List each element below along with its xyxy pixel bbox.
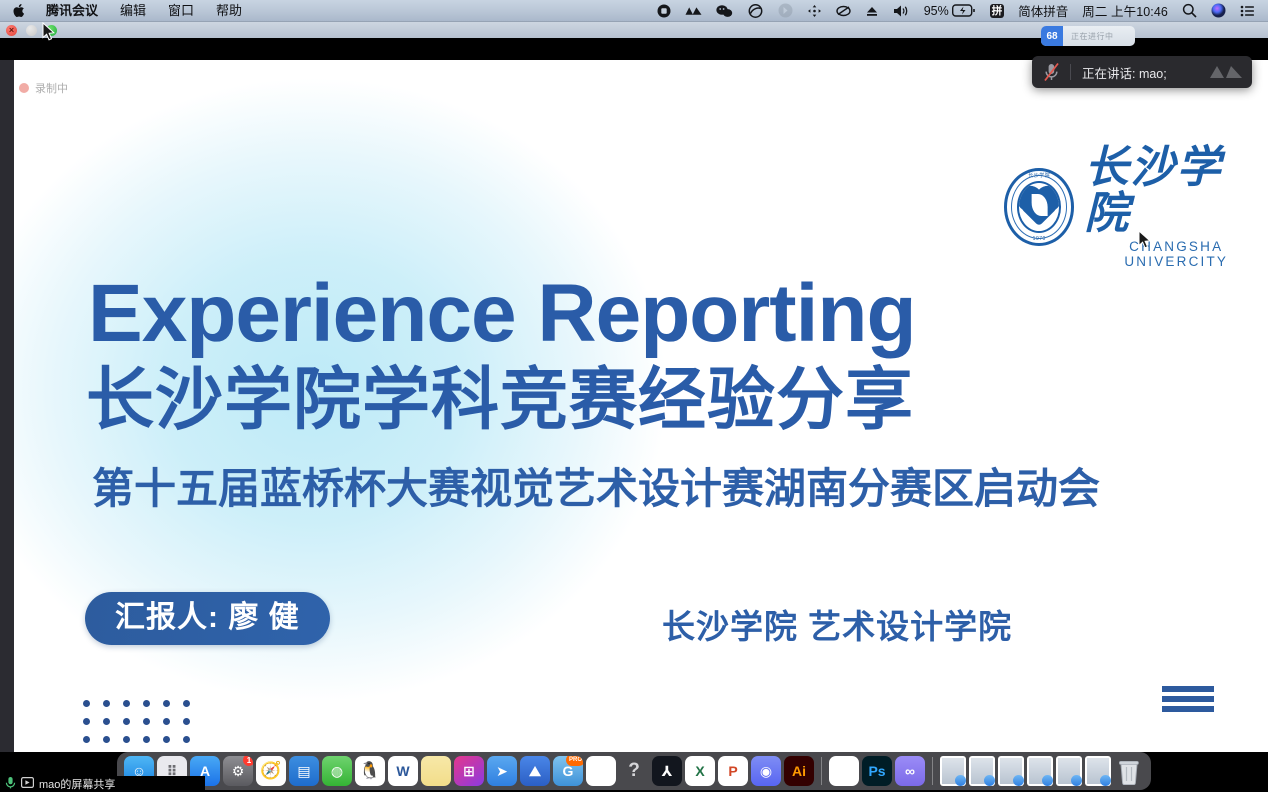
dock-item-asana[interactable]: ⁂: [586, 756, 616, 786]
adobe-acrobat-icon: ⅄: [662, 763, 673, 780]
macos-menu-bar: 腾讯会议 编辑 窗口 帮助: [0, 0, 1268, 22]
presenter-badge: 汇报人: 廖 健: [85, 592, 330, 645]
dock: ☺⠿A⚙1🧭▤◍🐧W⊞➤⛰GPRO⁂?⅄XP◉Ai◎Ps∞: [117, 752, 1151, 790]
mouse-cursor-secondary: [42, 22, 55, 46]
dock-item-xmind[interactable]: ⊞: [454, 756, 484, 786]
shared-content-area: 长沙学院 1970 长沙学院 CHANGSHA UNIVERCITY: [0, 60, 1268, 774]
tencent-meeting-logo-icon: [1209, 63, 1252, 81]
keynote-icon: ▤: [297, 763, 310, 780]
question-app-icon: ?: [628, 760, 640, 782]
shared-screen-window: × 长沙学院 1970: [0, 22, 1268, 792]
search-icon[interactable]: [1175, 0, 1204, 22]
menu-bar-left: 腾讯会议 编辑 窗口 帮助: [8, 0, 253, 22]
mountain-icon[interactable]: [678, 0, 709, 22]
loop-icon[interactable]: [829, 0, 858, 22]
slide-subtitle: 第十五届蓝桥杯大赛视觉艺术设计赛湖南分赛区启动会: [92, 468, 1100, 510]
asana-icon: ⁂: [592, 761, 609, 781]
minimize-button[interactable]: [26, 25, 37, 36]
dock-item-microsoft-excel[interactable]: X: [685, 756, 715, 786]
dock-item-discord[interactable]: ◉: [751, 756, 781, 786]
university-name-cn: 长沙学院: [1084, 145, 1268, 237]
active-speaker-label: 正在讲话: mao;: [1071, 63, 1167, 82]
bird-app-icon: ➤: [496, 763, 508, 780]
presentation-slide: 长沙学院 1970 长沙学院 CHANGSHA UNIVERCITY: [14, 60, 1268, 774]
volume-icon[interactable]: [886, 0, 917, 22]
wechat-icon: ◍: [331, 763, 343, 780]
screen: 腾讯会议 编辑 窗口 帮助: [0, 0, 1268, 792]
dock-item-keynote[interactable]: ▤: [289, 756, 319, 786]
infinity-app-icon: ∞: [905, 763, 915, 779]
forward-arrow-icon[interactable]: [771, 0, 800, 22]
dock-minimized-window-keynote[interactable]: [969, 756, 995, 786]
ime-glyph: 拼: [990, 4, 1005, 18]
dock-minimized-window-notes[interactable]: [1085, 756, 1111, 786]
close-button[interactable]: ×: [6, 25, 17, 36]
seal-top-text: 长沙学院: [1004, 172, 1074, 179]
dock-item-bird-app[interactable]: ➤: [487, 756, 517, 786]
dock-minimized-window-browser[interactable]: [1056, 756, 1082, 786]
decorative-bar-stack: [1162, 686, 1214, 712]
dock-minimized-window-doc[interactable]: [1027, 756, 1053, 786]
seal-year-text: 1970: [1004, 236, 1074, 242]
creative-cloud-icon[interactable]: [740, 0, 771, 22]
dock-item-qq[interactable]: 🐧: [355, 756, 385, 786]
airplay-mirror-icon[interactable]: [800, 0, 829, 22]
meeting-mini-label: 正在进行中: [1063, 31, 1114, 42]
menu-item-edit[interactable]: 编辑: [109, 0, 157, 22]
university-logo: 长沙学院 1970 长沙学院 CHANGSHA UNIVERCITY: [1004, 145, 1268, 269]
active-speaker-toast[interactable]: 正在讲话: mao;: [1032, 56, 1252, 88]
qq-icon: 🐧: [359, 761, 380, 781]
input-method-badge[interactable]: 拼: [983, 0, 1012, 22]
menu-item-help[interactable]: 帮助: [205, 0, 253, 22]
microsoft-powerpoint-icon: P: [728, 763, 737, 779]
screen-share-label: mao的屏幕共享: [39, 776, 115, 792]
dock-separator: [932, 757, 933, 785]
slide-title-english: Experience Reporting: [88, 273, 916, 355]
google-chrome-icon: ◎: [837, 761, 852, 781]
dock-item-microsoft-word[interactable]: W: [388, 756, 418, 786]
input-method-label[interactable]: 简体拼音: [1011, 0, 1075, 22]
adobe-photoshop-icon: Ps: [868, 763, 885, 779]
discord-icon: ◉: [760, 763, 772, 780]
safari-icon: 🧭: [260, 761, 281, 781]
mouse-cursor: [1138, 230, 1151, 254]
dock-minimized-window-photo[interactable]: [998, 756, 1024, 786]
mic-muted-icon[interactable]: [1032, 62, 1070, 82]
battery-percent-label: 95%: [924, 4, 949, 18]
system-settings-icon: ⚙: [232, 763, 245, 780]
dock-item-adobe-photoshop[interactable]: Ps: [862, 756, 892, 786]
mic-icon[interactable]: [5, 776, 16, 792]
dock-badge: PRO: [566, 756, 583, 766]
adobe-illustrator-icon: Ai: [792, 763, 806, 779]
menu-item-app[interactable]: 腾讯会议: [35, 0, 109, 22]
control-center-icon[interactable]: [1233, 0, 1262, 22]
dock-trash-icon[interactable]: [1114, 756, 1144, 786]
apple-logo-icon[interactable]: [8, 3, 35, 18]
record-stop-icon[interactable]: [650, 0, 678, 22]
university-seal-icon: 长沙学院 1970: [1004, 168, 1074, 246]
recording-indicator: 录制中: [14, 78, 77, 98]
dock-item-adobe-acrobat[interactable]: ⅄: [652, 756, 682, 786]
menu-bar-status-area: 95% 拼 简体拼音 周二 上午10:46: [650, 0, 1262, 22]
dock-item-google-chrome[interactable]: ◎: [829, 756, 859, 786]
mountain-app-icon: ⛰: [529, 763, 541, 780]
dock-item-sogou-pro[interactable]: GPRO: [553, 756, 583, 786]
battery-status[interactable]: 95%: [917, 0, 983, 22]
dock-item-microsoft-powerpoint[interactable]: P: [718, 756, 748, 786]
menu-item-window[interactable]: 窗口: [157, 0, 205, 22]
dock-item-notes[interactable]: [421, 756, 451, 786]
wechat-icon[interactable]: [709, 0, 740, 22]
dock-minimized-window-pdf[interactable]: [940, 756, 966, 786]
xmind-icon: ⊞: [463, 763, 475, 780]
slide-title-chinese: 长沙学院学科竞赛经验分享: [86, 366, 914, 434]
department-label: 长沙学院 艺术设计学院: [662, 600, 1012, 648]
dock-separator: [821, 757, 822, 785]
dock-item-adobe-illustrator[interactable]: Ai: [784, 756, 814, 786]
recording-label: 录制中: [35, 80, 68, 96]
meeting-mini-pill[interactable]: 68 正在进行中: [1041, 26, 1135, 46]
dock-badge: 1: [243, 756, 253, 766]
dock-item-mountain-app[interactable]: ⛰: [520, 756, 550, 786]
screen-share-status-bar: mao的屏幕共享: [0, 776, 205, 792]
screen-share-icon[interactable]: [21, 777, 34, 791]
dock-item-safari[interactable]: 🧭: [256, 756, 286, 786]
dock-item-wechat[interactable]: ◍: [322, 756, 352, 786]
recording-dot-icon: [19, 83, 29, 93]
university-name-en: CHANGSHA UNIVERCITY: [1084, 239, 1268, 269]
battery-charging-icon: [952, 4, 976, 17]
siri-icon[interactable]: [1204, 0, 1233, 22]
meeting-mini-badge: 68: [1041, 26, 1063, 46]
dock-item-system-settings[interactable]: ⚙1: [223, 756, 253, 786]
microsoft-excel-icon: X: [695, 763, 704, 779]
eject-icon[interactable]: [858, 0, 886, 22]
dock-item-question-app[interactable]: ?: [619, 756, 649, 786]
menu-bar-clock[interactable]: 周二 上午10:46: [1075, 0, 1175, 22]
dock-item-infinity-app[interactable]: ∞: [895, 756, 925, 786]
microsoft-word-icon: W: [396, 763, 409, 779]
